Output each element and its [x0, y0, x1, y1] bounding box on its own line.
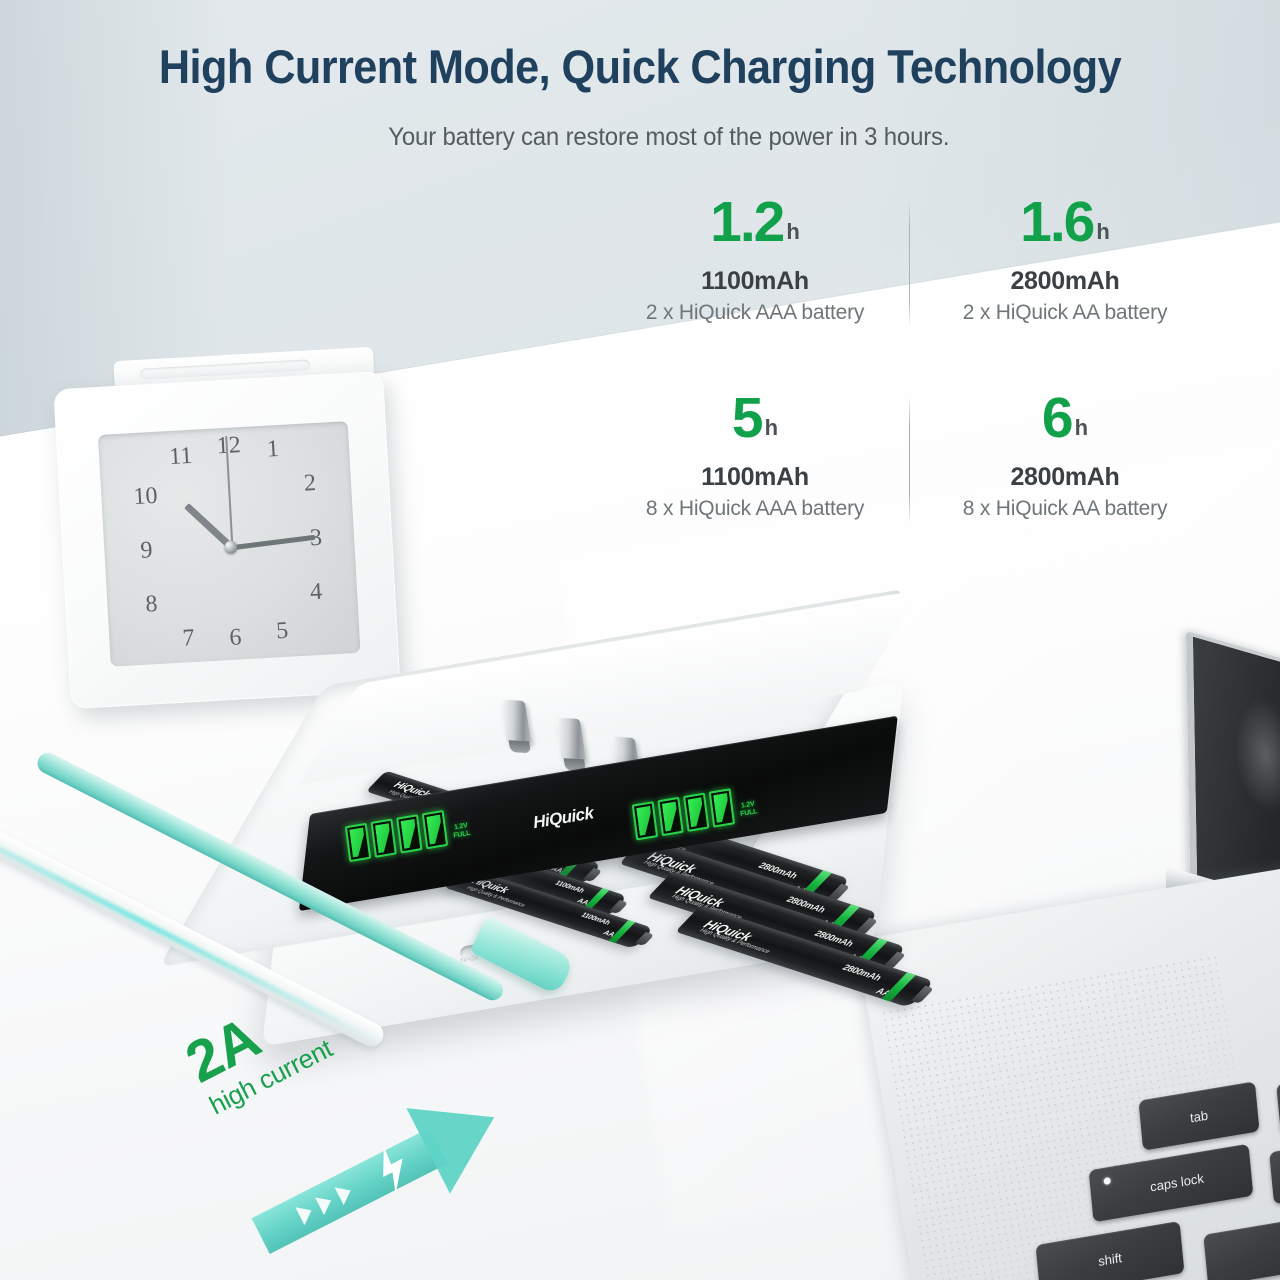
lcd-status-left: 1.2V FULL: [452, 822, 471, 841]
lcd-full-right: FULL: [740, 808, 758, 819]
laptop-screen-glow: [1236, 691, 1280, 819]
clock-numeral-12: 12: [216, 433, 241, 458]
key-tab[interactable]: tab: [1138, 1081, 1259, 1150]
clock-numeral-10: 10: [133, 484, 158, 509]
stat-hours: 1.6h: [910, 192, 1220, 264]
stat-hours-value: 6: [1042, 386, 1072, 450]
caps-lock-indicator-icon: [1103, 1177, 1111, 1185]
clock-numeral-1: 1: [266, 437, 279, 462]
stat-hours-value: 1.6: [1020, 190, 1093, 254]
key-blank-2[interactable]: [1269, 1138, 1280, 1205]
stat-hours: 1.2h: [600, 192, 910, 264]
lcd-battery-bar: [683, 793, 709, 832]
lcd-battery-bar: [422, 810, 448, 849]
lcd-display-right: [632, 788, 735, 840]
stat-capacity: 1100mAh: [600, 267, 910, 296]
page-subtitle: Your battery can restore most of the pow…: [26, 123, 1255, 152]
battery-charger: 1100mAh AAA HiQuick High Quality & Perfo…: [292, 676, 952, 1096]
alarm-clock: 12 1 2 3 4 5 6 7 8 9 10 11: [56, 352, 408, 712]
key-caps-lock[interactable]: caps lock: [1089, 1144, 1254, 1223]
lcd-battery-bar: [632, 801, 658, 840]
stat-card: 1.6h 2800mAh 2 x HiQuick AA battery: [910, 192, 1220, 342]
clock-hand-cap: [224, 540, 238, 554]
laptop-keyboard: tab caps lock shift fn: [1015, 1085, 1280, 1280]
clock-numeral-7: 7: [182, 626, 195, 651]
stat-hours-value: 1.2: [710, 190, 783, 254]
stat-description: 2 x HiQuick AAA battery: [600, 301, 910, 325]
product-scene: 12 1 2 3 4 5 6 7 8 9 10 11: [0, 0, 1280, 1280]
lcd-battery-bar: [371, 818, 397, 857]
lcd-battery-bar: [345, 823, 371, 862]
stat-card: 1.2h 1100mAh 2 x HiQuick AAA battery: [600, 192, 910, 342]
stat-hours: 6h: [910, 388, 1220, 460]
stat-hours-unit: h: [765, 415, 778, 440]
clock-minute-hand: [232, 535, 316, 550]
clock-numeral-2: 2: [303, 471, 316, 496]
clock-numeral-9: 9: [140, 538, 153, 563]
stat-description: 2 x HiQuick AA battery: [910, 301, 1220, 325]
stat-capacity: 2800mAh: [910, 463, 1220, 492]
stat-capacity: 2800mAh: [910, 267, 1220, 296]
battery-terminal: [911, 986, 934, 1004]
battery-capacity: 1100mAh: [579, 912, 612, 926]
stat-description: 8 x HiQuick AAA battery: [600, 497, 910, 521]
lcd-battery-bar: [396, 814, 422, 853]
clock-numeral-4: 4: [309, 580, 322, 605]
lcd-battery-bar: [657, 797, 683, 836]
stat-card: 6h 2800mAh 8 x HiQuick AA battery: [910, 388, 1220, 538]
stat-hours-unit: h: [786, 219, 799, 244]
stat-hours: 5h: [600, 388, 910, 460]
battery-capacity: 2800mAh: [840, 963, 884, 983]
lcd-display-left: [345, 810, 448, 862]
stats-row-8-batteries: 5h 1100mAh 8 x HiQuick AAA battery 6h 28…: [600, 388, 1220, 538]
stat-hours-unit: h: [1096, 219, 1109, 244]
stat-hours-unit: h: [1075, 415, 1088, 440]
charge-time-stats: 1.2h 1100mAh 2 x HiQuick AAA battery 1.6…: [600, 192, 1220, 537]
key-shift[interactable]: shift: [1036, 1221, 1185, 1280]
key-caps-lock-label: caps lock: [1149, 1170, 1204, 1194]
key-blank-3[interactable]: [1203, 1215, 1280, 1280]
lcd-battery-bar: [709, 788, 735, 827]
stat-description: 8 x HiQuick AA battery: [910, 497, 1220, 521]
battery-capacity: 1100mAh: [553, 880, 586, 894]
stat-hours-value: 5: [732, 386, 762, 450]
stats-row-2-batteries: 1.2h 1100mAh 2 x HiQuick AAA battery 1.6…: [600, 192, 1220, 342]
clock-body: 12 1 2 3 4 5 6 7 8 9 10 11: [53, 371, 400, 709]
clock-numeral-6: 6: [229, 625, 242, 650]
stat-card: 5h 1100mAh 8 x HiQuick AAA battery: [600, 388, 910, 538]
clock-numeral-8: 8: [145, 592, 158, 617]
clock-numeral-11: 11: [169, 444, 193, 469]
page-title: High Current Mode, Quick Charging Techno…: [51, 42, 1229, 91]
stat-capacity: 1100mAh: [600, 463, 910, 492]
clock-numeral-5: 5: [276, 619, 289, 644]
lcd-status-right: 1.2V FULL: [739, 800, 758, 819]
lcd-full-left: FULL: [453, 830, 471, 841]
clock-face: 12 1 2 3 4 5 6 7 8 9 10 11: [98, 421, 361, 667]
charger-brand-logo: HiQuick: [532, 803, 594, 833]
